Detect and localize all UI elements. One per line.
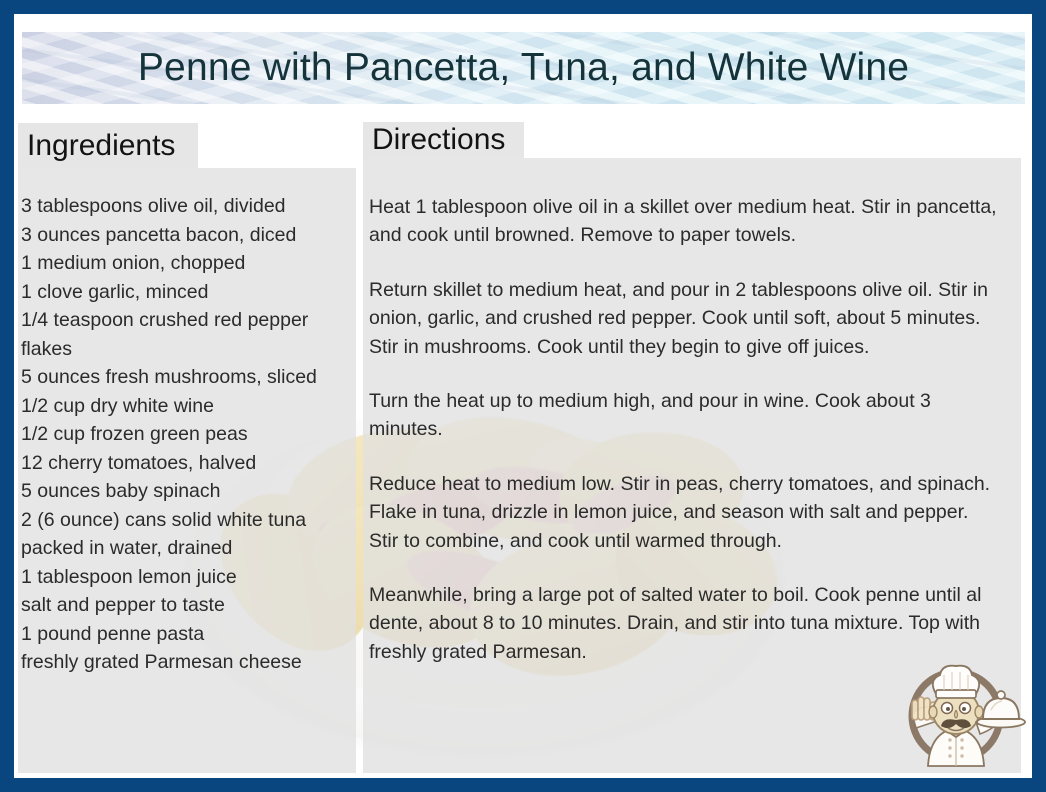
- list-item: 1/4 teaspoon crushed red pepper flakes: [21, 306, 361, 363]
- list-item: 1 tablespoon lemon juice: [21, 563, 361, 592]
- page-title: Penne with Pancetta, Tuna, and White Win…: [22, 32, 1025, 104]
- recipe-slide: Penne with Pancetta, Tuna, and White Win…: [0, 0, 1046, 792]
- ingredients-list: 3 tablespoons olive oil, divided 3 ounce…: [21, 192, 361, 677]
- slide-border-left: [0, 0, 14, 792]
- directions-heading-tab: Directions: [363, 122, 524, 158]
- chef-mascot-logo: [898, 648, 1026, 772]
- list-item: 5 ounces baby spinach: [21, 477, 361, 506]
- list-item: 3 tablespoons olive oil, divided: [21, 192, 361, 221]
- direction-step: Turn the heat up to medium high, and pou…: [369, 387, 997, 444]
- ingredients-heading-tab: Ingredients: [18, 123, 198, 168]
- list-item: 1/2 cup dry white wine: [21, 392, 361, 421]
- directions-steps: Heat 1 tablespoon olive oil in a skillet…: [369, 193, 997, 666]
- ingredients-heading: Ingredients: [27, 131, 175, 161]
- list-item: 5 ounces fresh mushrooms, sliced: [21, 363, 361, 392]
- list-item: salt and pepper to taste: [21, 591, 361, 620]
- list-item: 2 (6 ounce) cans solid white tuna packed…: [21, 506, 361, 563]
- direction-step: Reduce heat to medium low. Stir in peas,…: [369, 470, 997, 555]
- direction-step: Return skillet to medium heat, and pour …: [369, 276, 997, 361]
- direction-step: Heat 1 tablespoon olive oil in a skillet…: [369, 193, 997, 250]
- slide-border-top: [0, 0, 1046, 14]
- list-item: 1 pound penne pasta: [21, 620, 361, 649]
- title-banner: Penne with Pancetta, Tuna, and White Win…: [22, 32, 1025, 104]
- directions-heading: Directions: [372, 125, 505, 155]
- list-item: 1 medium onion, chopped: [21, 249, 361, 278]
- slide-border-bottom: [0, 778, 1046, 792]
- list-item: 1 clove garlic, minced: [21, 278, 361, 307]
- list-item: 12 cherry tomatoes, halved: [21, 449, 361, 478]
- slide-border-right: [1032, 0, 1046, 792]
- list-item: freshly grated Parmesan cheese: [21, 648, 361, 677]
- list-item: 3 ounces pancetta bacon, diced: [21, 221, 361, 250]
- list-item: 1/2 cup frozen green peas: [21, 420, 361, 449]
